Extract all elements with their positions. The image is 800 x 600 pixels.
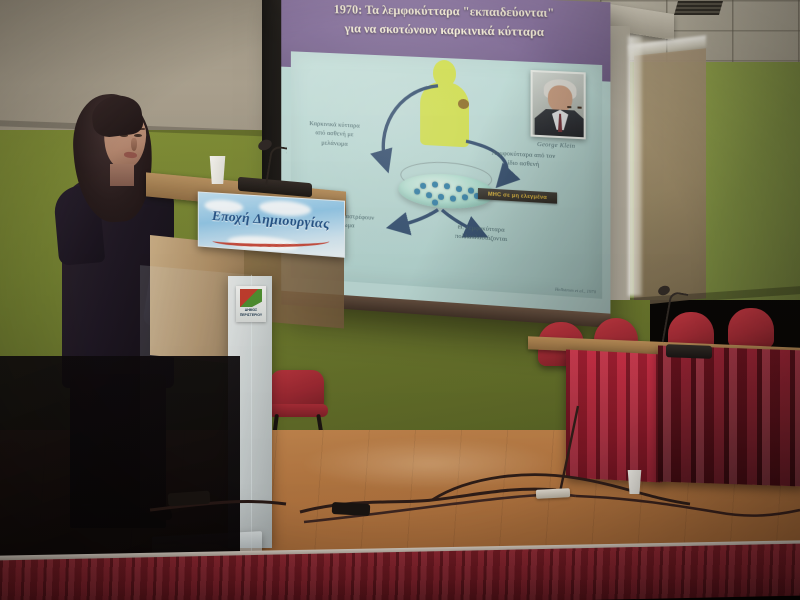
slide-title: 1970: Τα λεμφοκύτταρα "εκπαιδεύονται" γι… bbox=[294, 0, 596, 44]
banner-swoosh bbox=[212, 234, 330, 249]
podium-banner-text: Εποχή Δημιουργίας bbox=[199, 208, 344, 234]
speaker-neck bbox=[110, 164, 134, 186]
ceiling-vent-icon bbox=[674, 1, 723, 15]
chair-back bbox=[728, 308, 774, 348]
municipality-plaque-text: ΔΗΜΟΣ ΠΕΡΙΣΤΕΡΙΟΥ bbox=[236, 308, 266, 317]
table-console bbox=[666, 344, 712, 359]
floor-cable-box bbox=[332, 502, 371, 516]
speaker-nose bbox=[131, 138, 137, 151]
photo-scene: 1970: Τα λεμφοκύτταρα "εκπαιδεύονται" γι… bbox=[0, 0, 800, 600]
power-strip bbox=[536, 488, 570, 499]
annotation-left: Καρκινικά κύτταρααπό ασθενή μεμελάνωμα bbox=[299, 119, 371, 150]
municipality-logo-icon bbox=[240, 289, 262, 307]
podium-banner: Εποχή Δημιουργίας bbox=[198, 191, 345, 257]
window-light-edge bbox=[628, 36, 642, 296]
window-shade bbox=[634, 48, 706, 306]
municipality-plaque: ΔΗΜΟΣ ΠΕΡΙΣΤΕΡΙΟΥ bbox=[236, 286, 266, 322]
